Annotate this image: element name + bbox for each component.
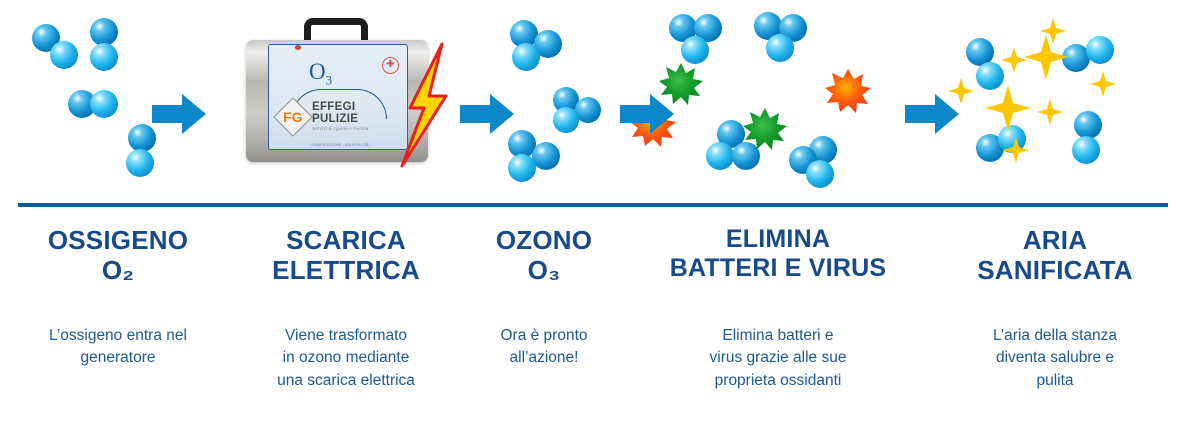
sparkle-icon xyxy=(1037,99,1063,125)
logo-text-block: EFFEGI PULIZIE Servizi di Igiene e Puliz… xyxy=(312,102,403,132)
machine-o3-label: O3 xyxy=(309,59,332,89)
o2-molecule xyxy=(32,24,78,69)
lightning-bolt-icon xyxy=(398,40,450,170)
machine-o3-subscript: 3 xyxy=(326,73,333,88)
sparkle-icon xyxy=(1040,18,1066,44)
o3-molecule xyxy=(754,12,807,62)
step-description: Viene trasformato in ozono mediante una … xyxy=(236,325,456,392)
power-indicator-icon xyxy=(295,45,301,50)
o2-molecule xyxy=(976,125,1026,162)
brand-name: EFFEGI PULIZIE xyxy=(312,102,403,125)
flow-arrow-icon xyxy=(152,92,206,136)
step-art-ozono xyxy=(458,0,628,200)
step-heading: ELIMINA BATTERI E VIRUS xyxy=(632,207,924,283)
o2-molecule xyxy=(1062,36,1114,72)
o2-molecule xyxy=(966,38,1004,90)
step-art-elimina-batteri-e-virus xyxy=(628,0,918,200)
o3-molecule xyxy=(510,20,562,71)
step-column-aria-sanificata: ARIA SANIFICATA L’aria della stanza dive… xyxy=(924,207,1186,429)
step-art-aria-sanificata xyxy=(918,0,1186,200)
o3-molecule xyxy=(789,136,837,188)
step-art-ossigeno xyxy=(0,0,234,200)
step-description: L’ossigeno entra nel generatore xyxy=(0,325,236,370)
step-art-scarica-elettrica: ✚ O3 FG EFFEGI PULIZIE Servizi di Igiene… xyxy=(234,0,458,200)
step-description: Ora è pronto all’azione! xyxy=(456,325,632,370)
step-column-elimina-batteri-e-virus: ELIMINA BATTERI E VIRUS Elimina batteri … xyxy=(632,207,924,429)
step-column-ozono: OZONO O₃ Ora è pronto all’azione! xyxy=(456,207,632,429)
certification-seal-icon: ✚ xyxy=(382,57,399,74)
o2-molecule xyxy=(68,90,118,118)
sparkle-icon xyxy=(1001,47,1027,73)
machine-o3-letter: O xyxy=(309,59,326,84)
o2-molecule xyxy=(90,18,118,71)
steps-text-band: OSSIGENO O₂ L’ossigeno entra nel generat… xyxy=(0,207,1186,429)
brand-tagline: Servizi di Igiene e Pulizia xyxy=(312,127,403,132)
o3-molecule xyxy=(669,14,722,64)
sparkle-icon xyxy=(1024,35,1068,80)
flow-arrow-icon xyxy=(460,92,514,136)
o3-molecule xyxy=(553,87,601,133)
step-heading: OZONO O₃ xyxy=(456,207,632,285)
step-heading: OSSIGENO O₂ xyxy=(0,207,236,285)
logo-monogram: FG xyxy=(283,109,302,125)
logo-diamond-icon: FG xyxy=(273,97,313,137)
graphics-band: ✚ O3 FG EFFEGI PULIZIE Servizi di Igiene… xyxy=(0,0,1186,200)
o3-molecule xyxy=(508,130,560,182)
step-column-ossigeno: OSSIGENO O₂ L’ossigeno entra nel generat… xyxy=(0,207,236,429)
ozone-sanitization-infographic: ✚ O3 FG EFFEGI PULIZIE Servizi di Igiene… xyxy=(0,0,1186,429)
step-column-scarica-elettrica: SCARICA ELETTRICA Viene trasformato in o… xyxy=(236,207,456,429)
machine-front-panel: ✚ O3 FG EFFEGI PULIZIE Servizi di Igiene… xyxy=(268,44,408,150)
ozone-generator-machine: ✚ O3 FG EFFEGI PULIZIE Servizi di Igiene… xyxy=(246,18,428,170)
step-heading: SCARICA ELETTRICA xyxy=(236,207,456,285)
step-heading: ARIA SANIFICATA xyxy=(924,207,1186,285)
flow-arrow-icon xyxy=(620,92,674,136)
virus-icon xyxy=(825,69,871,113)
step-description: Elimina batteri e virus grazie alle sue … xyxy=(632,325,924,392)
step-description: L’aria della stanza diventa salubre e pu… xyxy=(924,325,1186,392)
sparkle-icon xyxy=(1090,71,1116,97)
flow-arrow-icon xyxy=(905,92,959,136)
sparkle-icon xyxy=(985,85,1031,131)
machine-footnote: SANIFICAZIONE · ARIA PULITA xyxy=(303,143,377,147)
o2-molecule xyxy=(1072,111,1102,164)
effegi-logo: FG EFFEGI PULIZIE Servizi di Igiene e Pu… xyxy=(279,103,403,131)
